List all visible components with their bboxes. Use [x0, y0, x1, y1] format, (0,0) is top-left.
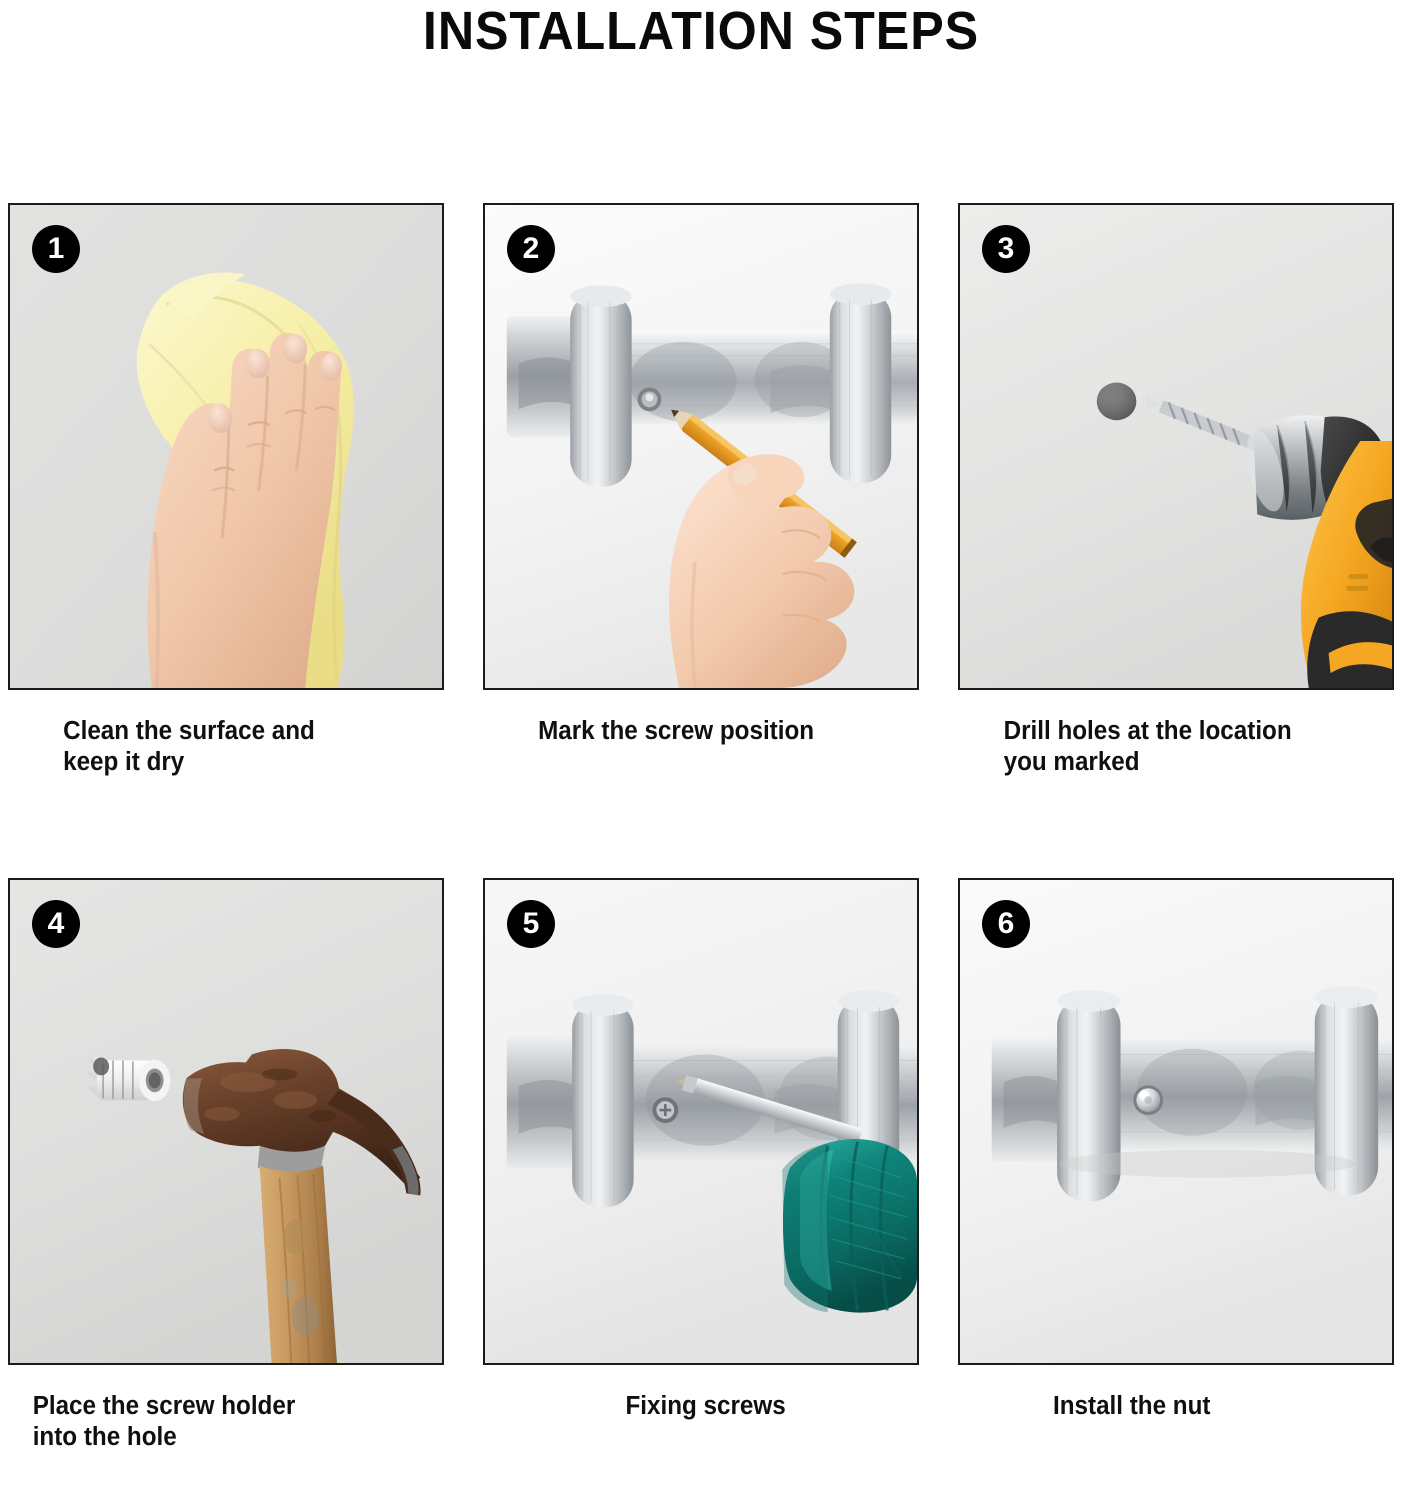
step-badge-5: 5	[507, 900, 555, 948]
scene-fixing-screws	[485, 880, 917, 1363]
step-card-5: 5 Fixing screws	[483, 878, 919, 1422]
scene-drill-holes	[960, 205, 1392, 688]
step-image-panel-1: 1	[8, 203, 444, 690]
steps-row-bottom: 4 Place the screw holder into the hole	[0, 878, 1402, 1498]
step-badge-6: 6	[982, 900, 1030, 948]
scene-install-the-nut	[960, 880, 1392, 1363]
step-caption-5: Fixing screws	[483, 1391, 897, 1422]
step-badge-3: 3	[982, 225, 1030, 273]
step-image-panel-4: 4	[8, 878, 444, 1365]
step-badge-2: 2	[507, 225, 555, 273]
step-caption-2: Mark the screw position	[483, 716, 897, 747]
step-badge-1: 1	[32, 225, 80, 273]
step-badge-4: 4	[32, 900, 80, 948]
step-caption-3: Drill holes at the location you marked	[958, 716, 1372, 778]
step-image-panel-2: 2	[483, 203, 919, 690]
step-caption-1: Clean the surface and keep it dry	[8, 716, 422, 778]
step-image-panel-6: 6	[958, 878, 1394, 1365]
scene-clean-surface	[10, 205, 442, 688]
step-card-3: 3 Drill holes at the location you marked	[958, 203, 1394, 778]
scene-place-screw-holder	[10, 880, 442, 1363]
step-image-panel-5: 5	[483, 878, 919, 1365]
step-card-4: 4 Place the screw holder into the hole	[8, 878, 444, 1453]
step-card-6: 6 Install the nut	[958, 878, 1394, 1422]
step-card-2: 2 Mark the screw position	[483, 203, 919, 747]
steps-row-top: 1 Clean the surface and keep it dry	[0, 203, 1402, 823]
step-image-panel-3: 3	[958, 203, 1394, 690]
step-caption-6: Install the nut	[958, 1391, 1372, 1422]
page-title: INSTALLATION STEPS	[49, 0, 1353, 62]
step-card-1: 1 Clean the surface and keep it dry	[8, 203, 444, 778]
step-caption-4: Place the screw holder into the hole	[8, 1391, 422, 1453]
scene-mark-screw-position	[485, 205, 917, 688]
